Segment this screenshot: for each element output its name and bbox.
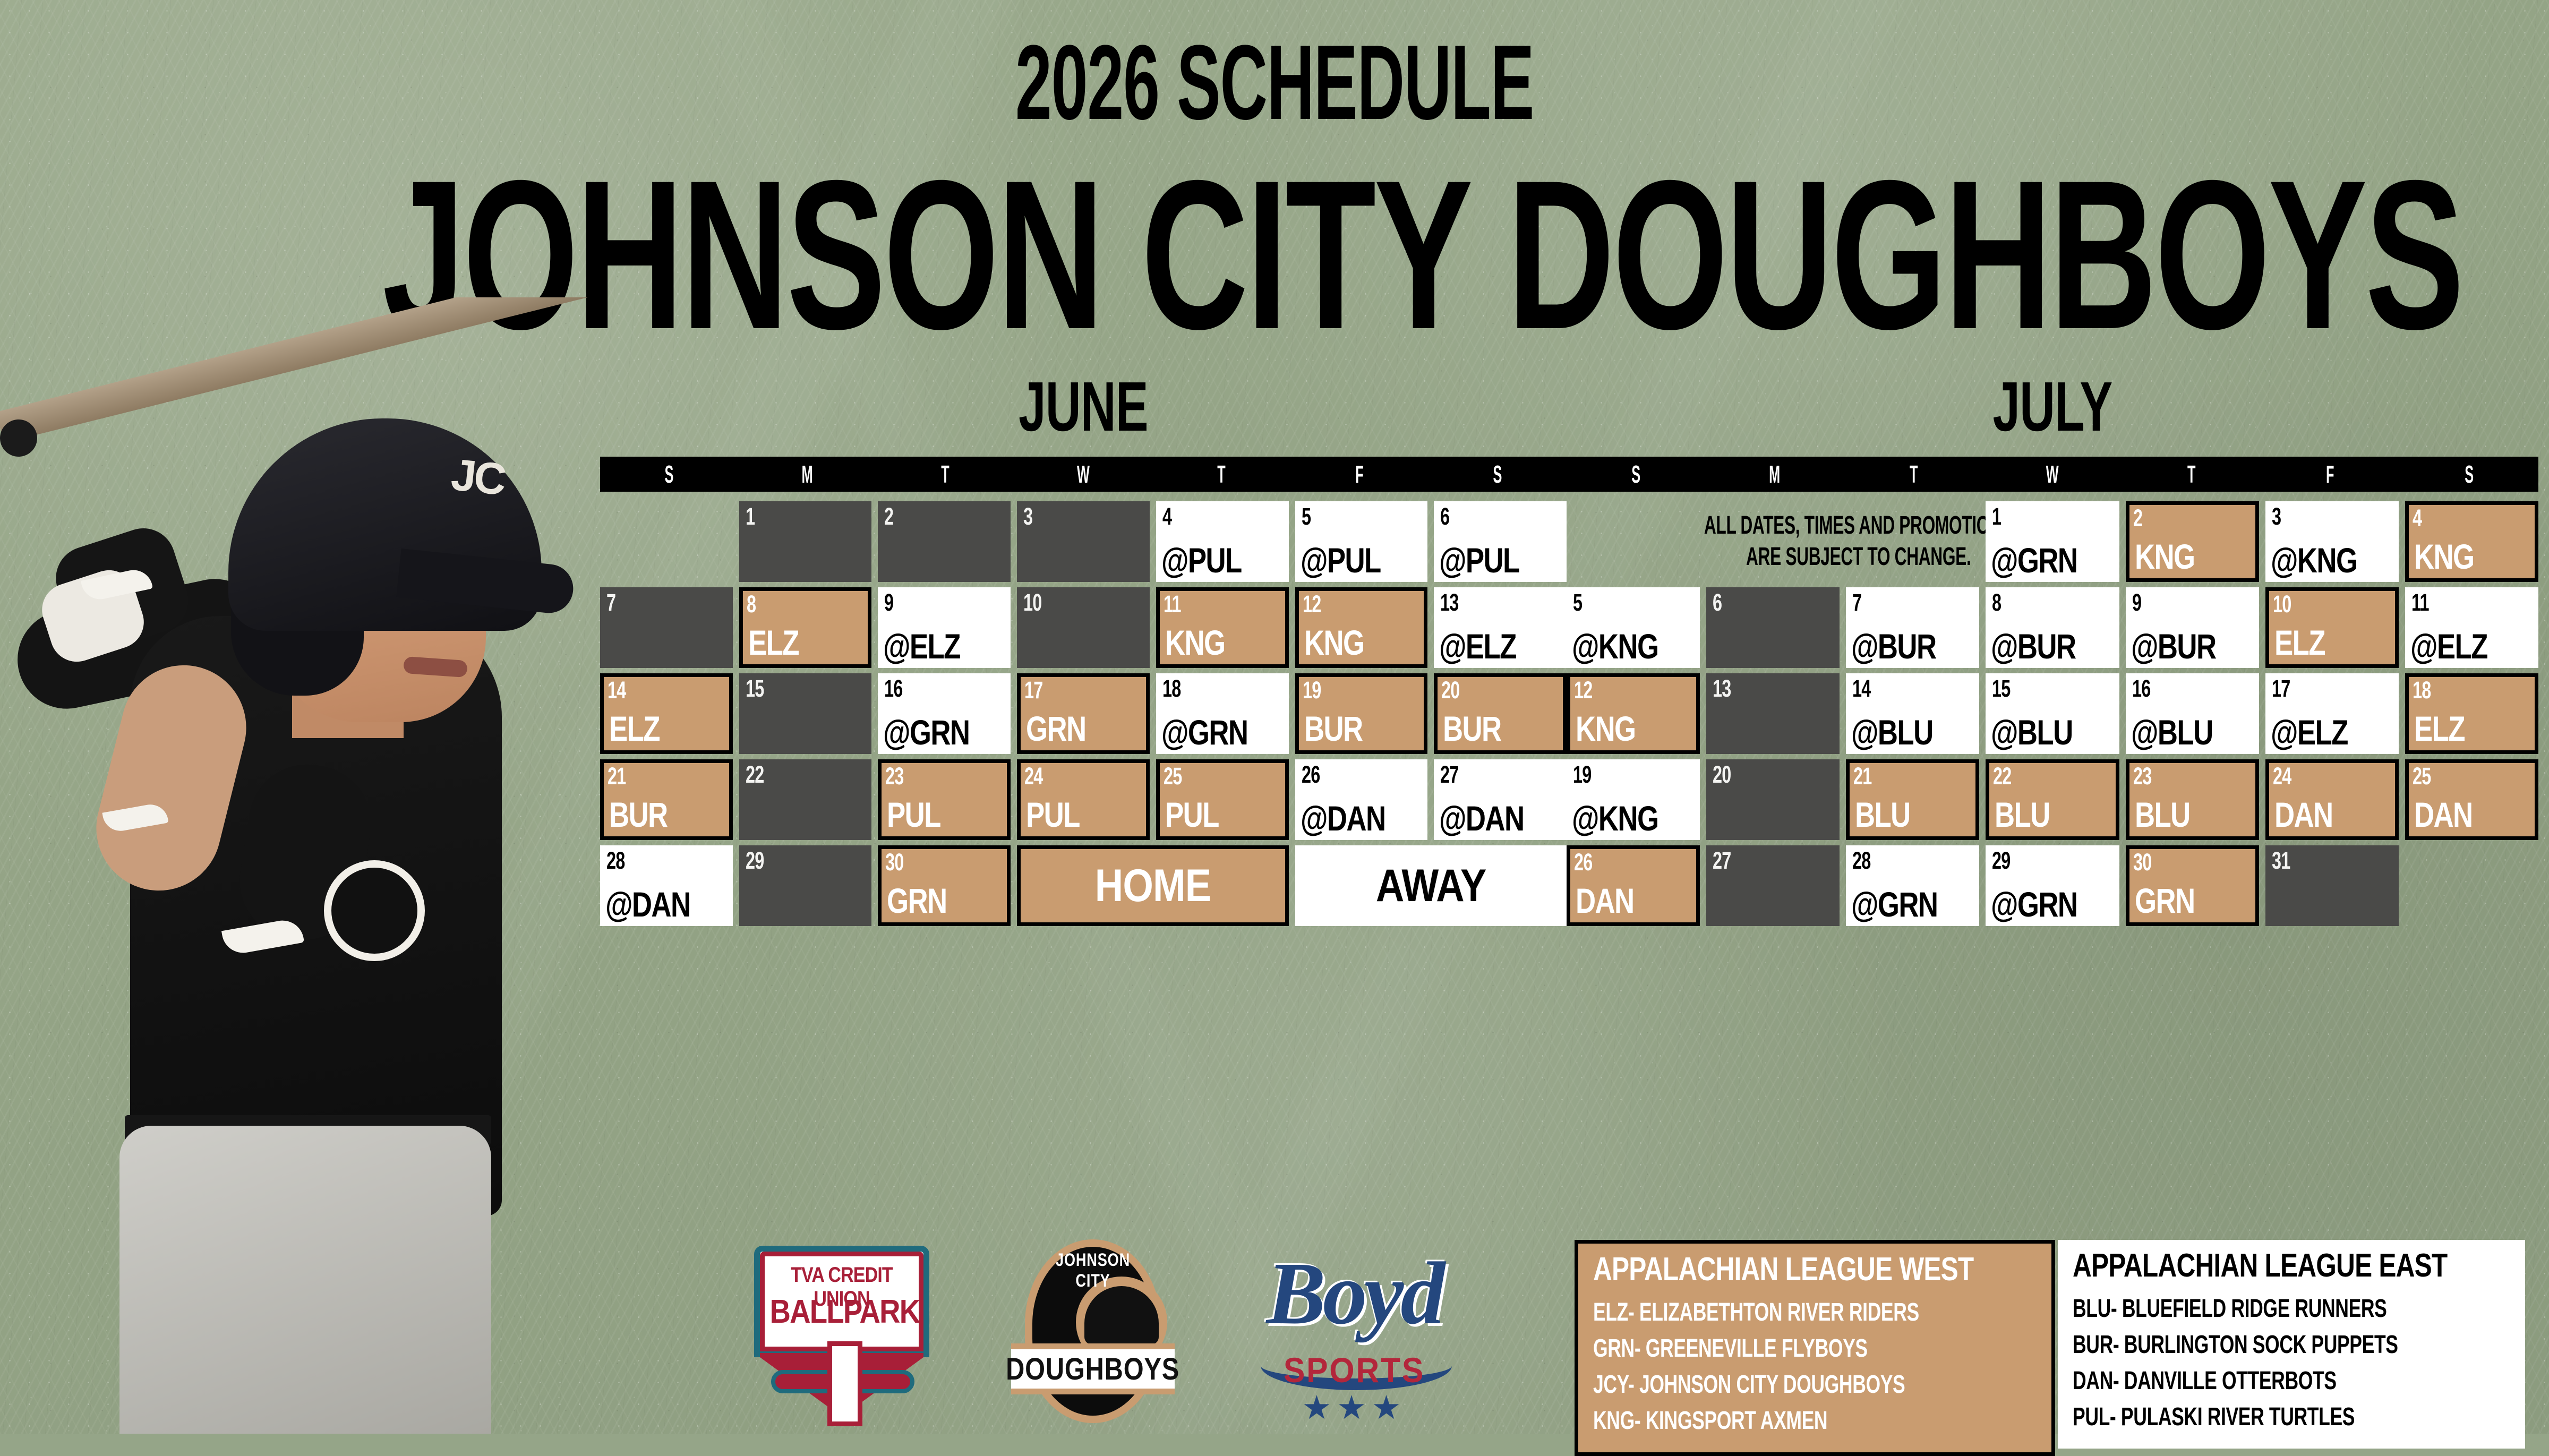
calendar-opponent-label: @ELZ: [1439, 629, 1538, 664]
calendar-day-number: 3: [2272, 504, 2359, 528]
calendar-opponent-label: @BUR: [2131, 629, 2231, 664]
calendar-cell[interactable]: 17@ELZ: [2265, 673, 2399, 754]
calendar-opponent-label: @PUL: [1161, 543, 1261, 578]
tva-credit-union-ballpark-logo: TVA CREDIT UNION BALLPARK: [738, 1237, 945, 1423]
calendar-cell[interactable]: 1@GRN: [1986, 501, 2119, 582]
legend-item: GRN- GREENEVILLE FLYBOYS: [1593, 1331, 1923, 1367]
calendar-cell[interactable]: 30GRN: [878, 845, 1011, 926]
legend-item: DAN- DANVILLE OTTERBOTS: [2073, 1363, 2398, 1399]
calendar-opponent-label: GRN: [1026, 711, 1119, 746]
calendar-cell[interactable]: 15@BLU: [1986, 673, 2119, 754]
calendar-day-number: 24: [2273, 764, 2357, 788]
calendar-cell[interactable]: 9@BUR: [2126, 587, 2259, 668]
calendar-day-number: 18: [1162, 676, 1250, 700]
calendar-cell[interactable]: 30GRN: [2126, 845, 2259, 926]
calendar-day-number: 23: [885, 764, 969, 788]
calendar-cell[interactable]: 21BLU: [1846, 759, 1979, 840]
doughboys-logo-top-text: JOHNSON CITY: [1041, 1250, 1144, 1291]
calendar-opponent-label: BUR: [609, 797, 703, 832]
legend-list-west: ELZ- ELIZABETHTON RIVER RIDERS GRN- GREE…: [1593, 1295, 2039, 1440]
calendar-cell[interactable]: 3@KNG: [2265, 501, 2399, 582]
calendar-cell-blank: [600, 501, 733, 582]
calendar-opponent-label: KNG: [1165, 625, 1259, 660]
calendar-cell[interactable]: 17GRN: [1017, 673, 1150, 754]
calendar-opponent-label: @GRN: [1991, 887, 2091, 922]
dow-friday: F: [1322, 460, 1398, 489]
calendar-opponent-label: @KNG: [2271, 543, 2371, 578]
calendar-opponent-label: @ELZ: [2271, 715, 2371, 750]
calendar-day-number: 1: [746, 504, 833, 528]
sponsor-logos: TVA CREDIT UNION BALLPARK JOHNSON CITY D…: [728, 1237, 1556, 1428]
calendar-cell[interactable]: 4KNG: [2405, 501, 2538, 582]
calendar-day-number: 6: [1440, 504, 1527, 528]
disclaimer-line-2: ARE SUBJECT TO CHANGE.: [1704, 542, 1971, 573]
calendar-day-number: 25: [2413, 764, 2497, 788]
calendar-cell: 22: [739, 759, 872, 840]
calendar-day-number: 28: [1852, 849, 1940, 872]
calendar-cell[interactable]: 16@BLU: [2126, 673, 2259, 754]
calendar-day-number: 1: [1992, 504, 2080, 528]
calendar-cell[interactable]: 28@GRN: [1846, 845, 1979, 926]
calendar-opponent-label: GRN: [887, 883, 980, 918]
calendar-cell[interactable]: 23BLU: [2126, 759, 2259, 840]
calendar-opponent-label: @BLU: [1991, 715, 2091, 750]
calendar-cell[interactable]: 18@GRN: [1156, 673, 1289, 754]
calendar-day-number: 8: [1992, 590, 2080, 614]
legend-title-east: APPALACHIAN LEAGUE EAST: [2073, 1249, 2424, 1282]
calendar-day-number: 12: [1574, 678, 1658, 702]
calendar-opponent-label: BUR: [1304, 711, 1398, 746]
calendar-day-number: 10: [2273, 592, 2357, 616]
calendar-day-number: 28: [606, 849, 694, 872]
calendar-day-number: 24: [1024, 764, 1108, 788]
day-of-week-header: S M T W T F S: [600, 457, 1567, 492]
calendar-opponent-label: @KNG: [1572, 801, 1672, 836]
calendar-day-number: 26: [1574, 850, 1658, 874]
calendar-cell[interactable]: 5@PUL: [1295, 501, 1428, 582]
calendar-day-number: 30: [885, 850, 969, 874]
legend-item: KNG- KINGSPORT AXMEN: [1593, 1403, 1923, 1439]
calendar-cell[interactable]: 10ELZ: [2265, 587, 2399, 668]
calendar-cell[interactable]: 2KNG: [2126, 501, 2259, 582]
month-title-july: JULY: [1713, 372, 2393, 442]
dow-monday: M: [769, 460, 845, 489]
team-title: JOHNSON CITY DOUGHBOYS: [382, 149, 2167, 361]
month-block-june: JUNE S M T W T F S 1234@PUL5@PUL6@PUL78E…: [600, 372, 1567, 926]
calendar-cell: 10: [1017, 587, 1150, 668]
calendar-cell: 27: [1706, 845, 1840, 926]
calendar-cell[interactable]: 8@BUR: [1986, 587, 2119, 668]
calendar-cell[interactable]: 11@ELZ: [2405, 587, 2538, 668]
calendar-opponent-label: KNG: [2135, 539, 2229, 574]
calendar-day-number: 15: [1992, 676, 2080, 700]
calendar-day-number: 15: [746, 676, 833, 700]
legend-list-east: BLU- BLUEFIELD RIDGE RUNNERS BUR- BURLIN…: [2073, 1291, 2512, 1436]
calendar-cell[interactable]: 12KNG: [1567, 673, 1700, 754]
calendar-day-number: 13: [1440, 590, 1527, 614]
calendar-opponent-label: @KNG: [1572, 629, 1672, 664]
calendar-day-number: 11: [1164, 592, 1247, 616]
calendar-day-number: 16: [884, 676, 971, 700]
legend-item: PUL- PULASKI RIVER TURTLES: [2073, 1399, 2398, 1435]
calendar-opponent-label: @ELZ: [2410, 629, 2510, 664]
calendar-day-number: 11: [2411, 590, 2499, 614]
jersey-patch-icon: [324, 860, 425, 961]
calendar-day-number: 29: [1992, 849, 2080, 872]
calendar-day-number: 18: [2413, 678, 2497, 702]
calendar-day-number: 25: [1164, 764, 1247, 788]
calendar-opponent-label: ELZ: [748, 625, 842, 660]
calendar-opponent-label: @GRN: [883, 715, 982, 750]
calendar-opponent-label: @DAN: [1439, 801, 1538, 836]
calendar-day-number: 20: [1441, 678, 1525, 702]
boyd-stars-icon: ★★★: [1237, 1388, 1471, 1427]
calendar-cell: 13: [1706, 673, 1840, 754]
calendar-cell[interactable]: 7@BUR: [1846, 587, 1979, 668]
calendar-cell[interactable]: 13@ELZ: [1434, 587, 1567, 668]
calendar-day-number: 23: [2133, 764, 2218, 788]
calendar-opponent-label: @GRN: [1851, 887, 1951, 922]
calendar-opponent-label: KNG: [1576, 711, 1670, 746]
dow-wednesday: W: [1046, 460, 1122, 489]
calendar-cell: 6: [1706, 587, 1840, 668]
calendar-cell[interactable]: 12KNG: [1295, 587, 1428, 668]
calendar-day-number: 21: [608, 764, 691, 788]
player-pants: [119, 1126, 491, 1434]
boyd-sports-text: SPORTS: [1247, 1350, 1462, 1390]
calendar-day-number: 26: [1302, 763, 1389, 786]
calendar-cell[interactable]: 5@KNG: [1567, 587, 1700, 668]
calendar-day-number: 16: [2132, 676, 2220, 700]
month-block-july: JULY S M T W T F S ALL DATES, TIMES AND …: [1567, 372, 2538, 926]
legend-item: BLU- BLUEFIELD RIDGE RUNNERS: [2073, 1291, 2398, 1327]
disclaimer-line-1: ALL DATES, TIMES AND PROMOTIONS: [1704, 510, 1971, 542]
calendar-cell: 3: [1017, 501, 1150, 582]
calendar-day-number: 22: [1993, 764, 2077, 788]
calendar-opponent-label: @ELZ: [883, 629, 982, 664]
dow-wednesday: W: [2014, 460, 2091, 489]
calendar-opponent-label: PUL: [1165, 797, 1259, 832]
calendar-cell: 7: [600, 587, 733, 668]
calendar-day-number: 19: [1573, 763, 1661, 786]
calendar-day-number: 4: [2413, 506, 2497, 530]
calendar-cell[interactable]: 9@ELZ: [878, 587, 1011, 668]
calendar-cell: 20: [1706, 759, 1840, 840]
dow-monday: M: [1737, 460, 1813, 489]
calendar-cell[interactable]: 24PUL: [1017, 759, 1150, 840]
calendar-day-number: 14: [608, 678, 691, 702]
calendar-cell[interactable]: 16@GRN: [878, 673, 1011, 754]
calendar-cell[interactable]: 19BUR: [1295, 673, 1428, 754]
calendar-opponent-label: @BLU: [2131, 715, 2231, 750]
calendar-grid-june: 1234@PUL5@PUL6@PUL78ELZ9@ELZ1011KNG12KNG…: [600, 501, 1567, 926]
calendar-day-number: 3: [1023, 504, 1110, 528]
johnson-city-doughboys-logo: JOHNSON CITY DOUGHBOYS: [1004, 1237, 1184, 1423]
calendar-opponent-label: DAN: [1576, 883, 1670, 918]
home-key-label: HOME: [1095, 860, 1211, 912]
calendar-cell: 29: [739, 845, 872, 926]
calendar-day-number: 29: [746, 849, 833, 872]
calendar-day-number: 6: [1713, 590, 1800, 614]
calendar-opponent-label: BLU: [2135, 797, 2229, 832]
dow-thursday: T: [1184, 460, 1260, 489]
calendar-opponent-label: KNG: [2414, 539, 2508, 574]
calendar-day-number: 9: [2132, 590, 2220, 614]
calendar-opponent-label: BLU: [1995, 797, 2089, 832]
calendar-opponent-label: @PUL: [1439, 543, 1538, 578]
calendar-day-number: 2: [884, 504, 971, 528]
calendar-opponent-label: PUL: [887, 797, 980, 832]
calendar-cell: 15: [739, 673, 872, 754]
calendar-opponent-label: @DAN: [605, 887, 705, 922]
calendar-cell: 1: [739, 501, 872, 582]
calendar-opponent-label: @BLU: [1851, 715, 1951, 750]
doughboys-name-band: DOUGHBOYS: [1011, 1343, 1175, 1394]
boyd-sports-logo: Boyd SPORTS ★★★: [1237, 1237, 1471, 1423]
legend-item: BUR- BURLINGTON SOCK PUPPETS: [2073, 1327, 2398, 1363]
calendar-cell[interactable]: 14ELZ: [600, 673, 733, 754]
calendar-grid-july: ALL DATES, TIMES AND PROMOTIONSARE SUBJE…: [1567, 501, 2538, 926]
calendar-cell[interactable]: 11KNG: [1156, 587, 1289, 668]
tva-logo-line2: BALLPARK: [769, 1293, 913, 1331]
calendar-cell[interactable]: 27@DAN: [1434, 759, 1567, 840]
player-photo: JC: [0, 297, 595, 1434]
calendar-cell[interactable]: 19@KNG: [1567, 759, 1700, 840]
legend-home-key: HOME: [1017, 845, 1288, 926]
calendar-opponent-label: GRN: [2135, 883, 2229, 918]
season-title: 2026 SCHEDULE: [484, 30, 2065, 136]
calendar-day-number: 2: [2133, 506, 2218, 530]
legend-item: JCY- JOHNSON CITY DOUGHBOYS: [1593, 1367, 1923, 1403]
calendar-opponent-label: ELZ: [2414, 711, 2508, 746]
calendar-opponent-label: ELZ: [2274, 625, 2368, 660]
calendar-cell[interactable]: 8ELZ: [739, 587, 872, 668]
calendar-day-number: 27: [1713, 849, 1800, 872]
away-key-label: AWAY: [1375, 860, 1486, 912]
tva-one-mark: [827, 1341, 862, 1426]
calendar-day-number: 20: [1713, 763, 1800, 786]
calendar-opponent-label: DAN: [2414, 797, 2508, 832]
calendar-day-number: 19: [1303, 678, 1386, 702]
calendar-day-number: 17: [1024, 678, 1108, 702]
calendar-day-number: 13: [1713, 676, 1800, 700]
helmet-logo-text: JC: [449, 449, 507, 506]
dow-saturday: S: [1460, 460, 1536, 489]
calendar-day-number: 7: [1852, 590, 1940, 614]
calendar-day-number: 9: [884, 590, 971, 614]
legend-item: ELZ- ELIZABETHTON RIVER RIDERS: [1593, 1295, 1923, 1331]
day-of-week-header: S M T W T F S: [1567, 457, 2538, 492]
dow-saturday: S: [2431, 460, 2507, 489]
tva-shield-shape: TVA CREDIT UNION BALLPARK: [754, 1246, 929, 1357]
calendar-opponent-label: @GRN: [1161, 715, 1261, 750]
calendar-day-number: 31: [2272, 849, 2359, 872]
legend-title-west: APPALACHIAN LEAGUE WEST: [1593, 1253, 1949, 1286]
calendar-day-number: 14: [1852, 676, 1940, 700]
schedule-poster: 2026 SCHEDULE JOHNSON CITY DOUGHBOYS JC …: [0, 0, 2549, 1434]
calendar-day-number: 27: [1440, 763, 1527, 786]
calendar-cell[interactable]: 23PUL: [878, 759, 1011, 840]
calendar-cell[interactable]: 29@GRN: [1986, 845, 2119, 926]
doughboys-logo-band-text: DOUGHBOYS: [1006, 1351, 1180, 1387]
legend-away-key: AWAY: [1295, 845, 1567, 926]
calendar-day-number: 4: [1162, 504, 1250, 528]
calendar-cell[interactable]: 28@DAN: [600, 845, 733, 926]
calendar-opponent-label: @GRN: [1991, 543, 2091, 578]
dow-sunday: S: [631, 460, 707, 489]
calendar-cell[interactable]: 6@PUL: [1434, 501, 1567, 582]
calendar-day-number: 30: [2133, 850, 2218, 874]
calendar-opponent-label: DAN: [2274, 797, 2368, 832]
calendar-day-number: 17: [2272, 676, 2359, 700]
calendar-cell[interactable]: 21BUR: [600, 759, 733, 840]
calendar-day-number: 7: [606, 590, 694, 614]
dow-tuesday: T: [908, 460, 983, 489]
dow-tuesday: T: [1876, 460, 1952, 489]
boyd-wordmark: Boyd: [1237, 1243, 1471, 1345]
month-title-june: JUNE: [745, 372, 1422, 442]
calendar-cell[interactable]: 18ELZ: [2405, 673, 2538, 754]
calendar-day-number: 12: [1303, 592, 1386, 616]
calendar-cell[interactable]: 14@BLU: [1846, 673, 1979, 754]
legend-appalachian-league-west: APPALACHIAN LEAGUE WEST ELZ- ELIZABETHTO…: [1575, 1240, 2055, 1456]
baseball-bat-icon: [0, 297, 595, 443]
calendar-opponent-label: ELZ: [609, 711, 703, 746]
calendar-cell[interactable]: 4@PUL: [1156, 501, 1289, 582]
calendar-cell[interactable]: 20BUR: [1434, 673, 1567, 754]
calendar-cell[interactable]: 25DAN: [2405, 759, 2538, 840]
calendar-cell: 2: [878, 501, 1011, 582]
dow-thursday: T: [2153, 460, 2230, 489]
calendar-cell[interactable]: 22BLU: [1986, 759, 2119, 840]
calendar-opponent-label: KNG: [1304, 625, 1398, 660]
schedule-disclaimer: ALL DATES, TIMES AND PROMOTIONSARE SUBJE…: [1567, 501, 1979, 582]
dow-sunday: S: [1598, 460, 1674, 489]
calendar-cell: 31: [2265, 845, 2399, 926]
calendar-opponent-label: BLU: [1855, 797, 1949, 832]
calendar-cell[interactable]: 26DAN: [1567, 845, 1700, 926]
calendar-cell[interactable]: 26@DAN: [1295, 759, 1428, 840]
calendar-opponent-label: @DAN: [1301, 801, 1400, 836]
calendar-opponent-label: @PUL: [1301, 543, 1400, 578]
calendar-opponent-label: PUL: [1026, 797, 1119, 832]
dow-friday: F: [2292, 460, 2368, 489]
calendar-opponent-label: @BUR: [1851, 629, 1951, 664]
calendar-day-number: 21: [1853, 764, 1938, 788]
calendar-day-number: 22: [746, 763, 833, 786]
calendar-cell[interactable]: 25PUL: [1156, 759, 1289, 840]
legend-appalachian-league-east: APPALACHIAN LEAGUE EAST BLU- BLUEFIELD R…: [2058, 1240, 2525, 1449]
calendar-day-number: 5: [1573, 590, 1661, 614]
calendar-day-number: 10: [1023, 590, 1110, 614]
calendar-opponent-label: @BUR: [1991, 629, 2091, 664]
calendar-cell[interactable]: 24DAN: [2265, 759, 2399, 840]
calendar-day-number: 5: [1302, 504, 1389, 528]
calendar-opponent-label: BUR: [1443, 711, 1536, 746]
calendar-day-number: 8: [747, 592, 830, 616]
